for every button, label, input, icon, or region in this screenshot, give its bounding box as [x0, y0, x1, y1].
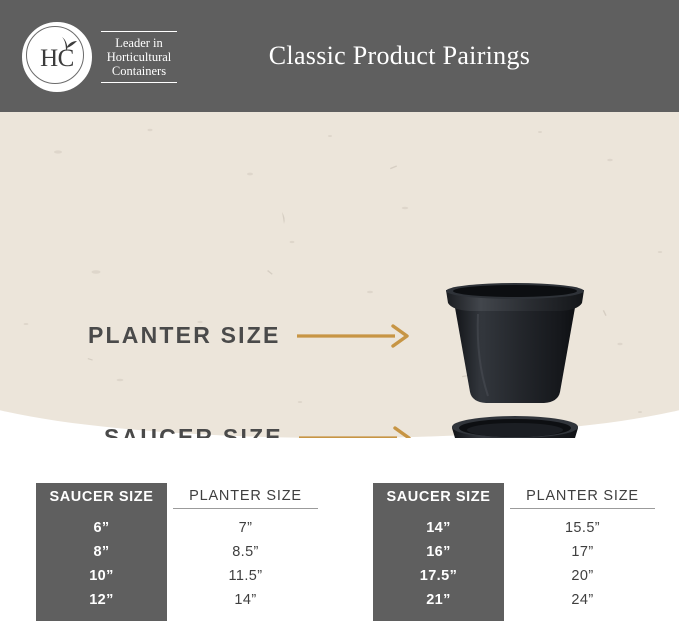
column-planter-values: 7” 8.5” 11.5” 14” — [173, 510, 318, 621]
callout-planter-size: PLANTER SIZE — [88, 322, 413, 349]
page-title: Classic Product Pairings — [0, 0, 679, 112]
column-saucer-values: 14” 16” 17.5” 21” — [373, 510, 504, 621]
table-cell: 8” — [36, 540, 167, 564]
table-cell: 24” — [510, 588, 655, 612]
saucer-product-image — [450, 414, 580, 438]
table-cell: 21” — [373, 588, 504, 612]
table-cell: 11.5” — [173, 564, 318, 588]
hero-panel: PLANTER SIZE SAUCER SIZE — [0, 112, 679, 438]
column-header-planter-size: PLANTER SIZE — [173, 483, 318, 509]
table-body: 6” 8” 10” 12” 7” 8.5” 11.5” 14” — [36, 510, 318, 621]
size-table-large: SAUCER SIZE PLANTER SIZE 14” 16” 17.5” 2… — [373, 483, 655, 618]
table-cell: 12” — [36, 588, 167, 612]
table-cell: 7” — [173, 516, 318, 540]
callout-saucer-label: SAUCER SIZE — [104, 424, 283, 438]
table-cell: 16” — [373, 540, 504, 564]
column-saucer-values: 6” 8” 10” 12” — [36, 510, 167, 621]
arrow-right-icon — [299, 425, 415, 439]
planter-product-image — [440, 280, 590, 408]
callout-planter-label: PLANTER SIZE — [88, 322, 281, 349]
arrow-right-icon — [297, 323, 413, 349]
column-header-planter-size: PLANTER SIZE — [510, 483, 655, 509]
table-cell: 6” — [36, 516, 167, 540]
table-cell: 17” — [510, 540, 655, 564]
column-planter-values: 15.5” 17” 20” 24” — [510, 510, 655, 621]
table-cell: 17.5” — [373, 564, 504, 588]
table-header-row: SAUCER SIZE PLANTER SIZE — [373, 483, 655, 510]
table-cell: 15.5” — [510, 516, 655, 540]
table-header-row: SAUCER SIZE PLANTER SIZE — [36, 483, 318, 510]
table-body: 14” 16” 17.5” 21” 15.5” 17” 20” 24” — [373, 510, 655, 621]
page-header: HC Leader in Horticultural Containers Cl… — [0, 0, 679, 112]
table-cell: 8.5” — [173, 540, 318, 564]
table-cell: 10” — [36, 564, 167, 588]
column-header-saucer-size: SAUCER SIZE — [373, 483, 504, 510]
size-table-small: SAUCER SIZE PLANTER SIZE 6” 8” 10” 12” 7… — [36, 483, 318, 618]
callout-saucer-size: SAUCER SIZE — [104, 424, 415, 438]
table-cell: 14” — [173, 588, 318, 612]
table-cell: 14” — [373, 516, 504, 540]
table-cell: 20” — [510, 564, 655, 588]
column-header-saucer-size: SAUCER SIZE — [36, 483, 167, 510]
